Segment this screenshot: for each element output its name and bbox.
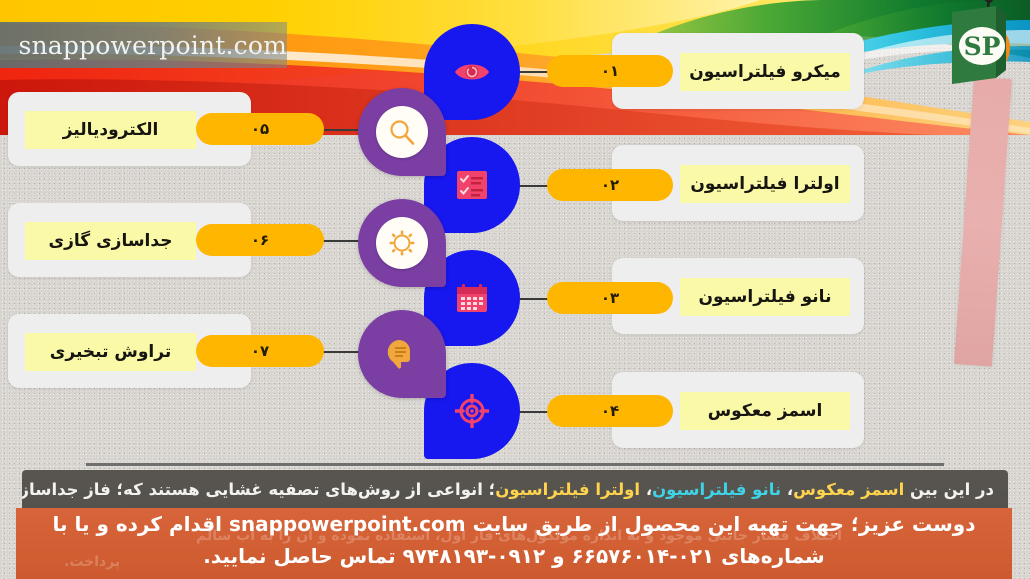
orange-line1-b: اقدام کرده و یا با	[53, 512, 229, 536]
label-item-05: الکترودیالیز	[25, 111, 196, 149]
number-pill-07[interactable]: ۰۷	[196, 335, 324, 367]
pin-item-05[interactable]	[358, 88, 446, 176]
orange-banner-line-1: دوست عزیز؛ جهت تهیه این محصول از طریق سا…	[16, 512, 1012, 536]
pin-item-07[interactable]	[358, 310, 446, 398]
checklist-icon	[456, 170, 488, 200]
slide-root: snappowerpoint.com انواع فرآیندهای غشایی…	[0, 0, 1030, 579]
label-item-06: جداسازی گازی	[25, 222, 196, 260]
gray-banner-line-1: در این بین اسمز معکوس، نانو فیلتراسیون، …	[22, 476, 1008, 504]
logo-text: SP	[964, 32, 1001, 61]
connector-07	[323, 351, 359, 353]
pin-item-06[interactable]	[358, 199, 446, 287]
gray-line1-pre: در این بین	[904, 480, 994, 499]
pin-06-disc	[376, 217, 428, 269]
gray-line1-sep-1: ،	[781, 480, 793, 499]
number-pill-02[interactable]: ۰۲	[547, 169, 673, 201]
magnifier-icon	[388, 118, 416, 146]
orange-line2-mid: و	[545, 544, 571, 568]
orange-line2-phone-2: ۰۹۱۲-۹۷۴۸۱۹۳	[403, 544, 546, 568]
target-icon	[455, 394, 489, 428]
label-item-04: اسمز معکوس	[680, 392, 850, 430]
eye-icon	[453, 59, 491, 85]
pin-05-disc	[376, 106, 428, 158]
number-pill-05[interactable]: ۰۵	[196, 113, 324, 145]
gray-line1-post: ؛ انواعی از روش‌های تصفیه غشایی هستند که…	[22, 480, 495, 499]
gear-icon	[388, 229, 416, 257]
number-pill-03[interactable]: ۰۳	[547, 282, 673, 314]
orange-line1-site: snappowerpoint.com	[229, 512, 466, 536]
gray-line1-sep-2: ،	[640, 480, 652, 499]
brand-logo: SP	[944, 4, 1018, 90]
label-item-03: نانو فیلتراسیون	[680, 278, 850, 316]
orange-line1-a: دوست عزیز؛ جهت تهیه این محصول از طریق سا…	[466, 512, 976, 536]
orange-banner-line-2: شماره‌های ۰۲۱-۶۶۵۷۶۰۱۴ و ۰۹۱۲-۹۷۴۸۱۹۳ تم…	[16, 544, 1012, 568]
document-head-icon	[385, 337, 419, 371]
calendar-icon	[456, 283, 488, 313]
orange-line2-a: شماره‌های	[714, 544, 825, 568]
label-item-07: تراوش تبخیری	[25, 333, 196, 371]
site-watermark: snappowerpoint.com	[0, 22, 287, 68]
label-item-02: اولترا فیلتراسیون	[680, 165, 850, 203]
gray-line1-term-2: نانو فیلتراسیون	[652, 480, 781, 499]
label-item-01: میکرو فیلتراسیون	[680, 53, 850, 91]
orange-line2-b: تماس حاصل نمایید.	[203, 544, 402, 568]
connector-05	[323, 129, 359, 131]
banner-divider	[86, 463, 944, 466]
gray-line1-term-3: اولترا فیلتراسیون	[495, 480, 640, 499]
site-watermark-text: snappowerpoint.com	[6, 31, 287, 60]
number-pill-04[interactable]: ۰۴	[547, 395, 673, 427]
number-pill-01[interactable]: ۰۱	[547, 55, 673, 87]
orange-line2-phone-1: ۰۲۱-۶۶۵۷۶۰۱۴	[572, 544, 715, 568]
orange-contact-banner: اختلاف فشار جانبی موجود و به اندازه مولک…	[16, 508, 1012, 579]
number-pill-06[interactable]: ۰۶	[196, 224, 324, 256]
gray-line1-term-1: اسمز معکوس	[793, 480, 904, 499]
connector-06	[323, 240, 359, 242]
pin-item-01[interactable]	[424, 24, 520, 120]
